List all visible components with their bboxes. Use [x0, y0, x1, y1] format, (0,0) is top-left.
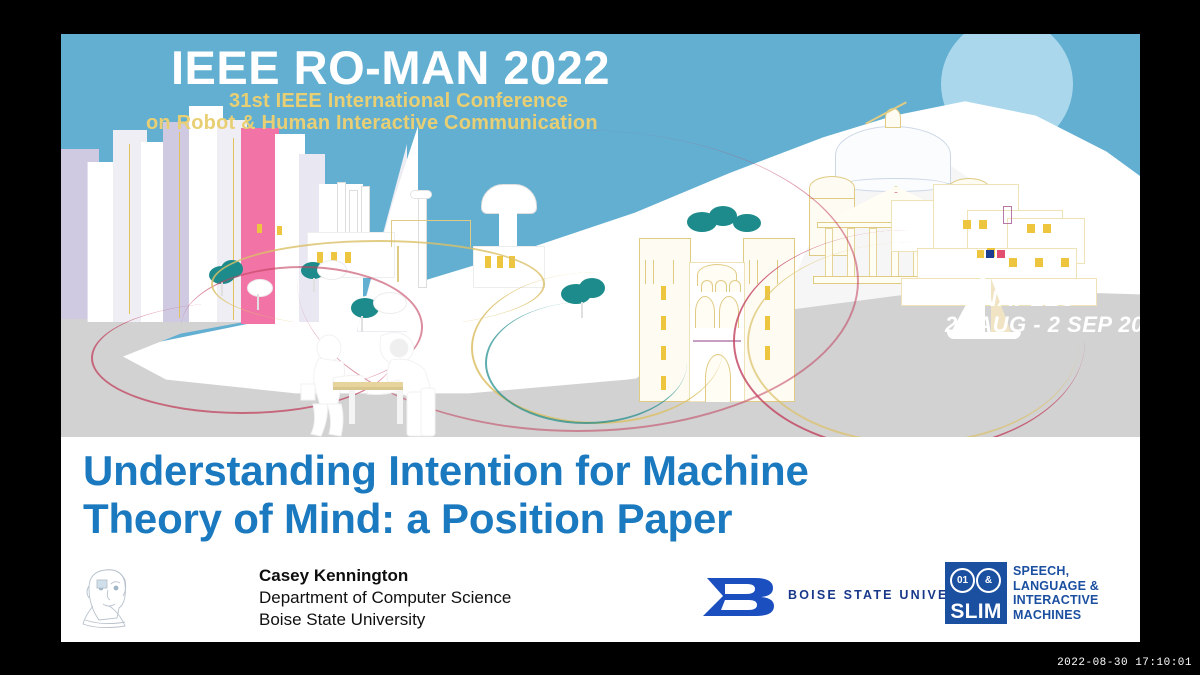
recording-timestamp: 2022-08-30 17:10:01: [1057, 657, 1192, 669]
road-gold-coast: [747, 242, 1079, 437]
author-department: Department of Computer Science: [259, 587, 511, 609]
side-dome-icon: [809, 176, 855, 200]
portrait-svg: [75, 562, 145, 632]
paper-title-line2: Theory of Mind: a Position Paper: [83, 495, 1083, 543]
building-detail-line: [129, 144, 130, 314]
slim-text-line4: MACHINES: [1013, 608, 1099, 623]
basilica-dome-icon: [835, 126, 951, 184]
author-name: Casey Kennington: [259, 565, 511, 587]
conference-dates: 29 AUG - 2 SEP 2022: [945, 312, 1140, 338]
figures-svg: [275, 330, 535, 437]
paper-title-line1: Understanding Intention for Machine: [83, 447, 1083, 495]
boise-state-logo: BOISE STATE UNIVERSITY: [701, 574, 981, 620]
window-icon: [979, 220, 987, 229]
window-icon: [257, 224, 262, 233]
author-block: Casey Kennington Department of Computer …: [259, 565, 511, 631]
conference-subtitle-line1: 31st IEEE International Conference: [229, 90, 568, 113]
window-icon: [1043, 224, 1051, 233]
author-portrait-sketch: [75, 562, 145, 632]
slim-badge: 01 & SLIM: [945, 562, 1007, 624]
slim-text-line3: INTERACTIVE: [1013, 593, 1099, 608]
window-icon: [1027, 224, 1035, 233]
slim-logo: 01 & SLIM SPEECH, LANGUAGE & INTERACTIVE…: [945, 562, 1135, 626]
presentation-slide: IEEE RO-MAN 2022 31st IEEE International…: [61, 34, 1140, 642]
window-icon: [963, 220, 971, 229]
conference-banner-image: IEEE RO-MAN 2022 31st IEEE International…: [61, 34, 1140, 437]
window-icon: [277, 226, 282, 235]
figure-group: [275, 330, 535, 437]
conference-title: IEEE RO-MAN 2022: [171, 40, 610, 95]
screen-root: IEEE RO-MAN 2022 31st IEEE International…: [0, 0, 1200, 675]
paper-title: Understanding Intention for Machine Theo…: [83, 447, 1083, 543]
slim-text-line2: LANGUAGE &: [1013, 579, 1099, 594]
gear-circle-icon: 01: [950, 568, 975, 593]
conference-location: NAPLES: [981, 286, 1076, 312]
slim-acronym: SLIM: [945, 601, 1007, 623]
ampersand-circle-icon: &: [976, 568, 1001, 593]
conference-subtitle-line2: on Robot & Human Interactive Communicati…: [146, 112, 598, 135]
slim-text-line1: SPEECH,: [1013, 564, 1099, 579]
boise-state-b-icon: [701, 574, 779, 618]
building-detail-line: [179, 132, 180, 318]
window-icon: [1061, 258, 1069, 267]
author-organization: Boise State University: [259, 609, 511, 631]
slim-wordmark: SPEECH, LANGUAGE & INTERACTIVE MACHINES: [1013, 564, 1099, 622]
tower-accent: [1003, 206, 1012, 224]
